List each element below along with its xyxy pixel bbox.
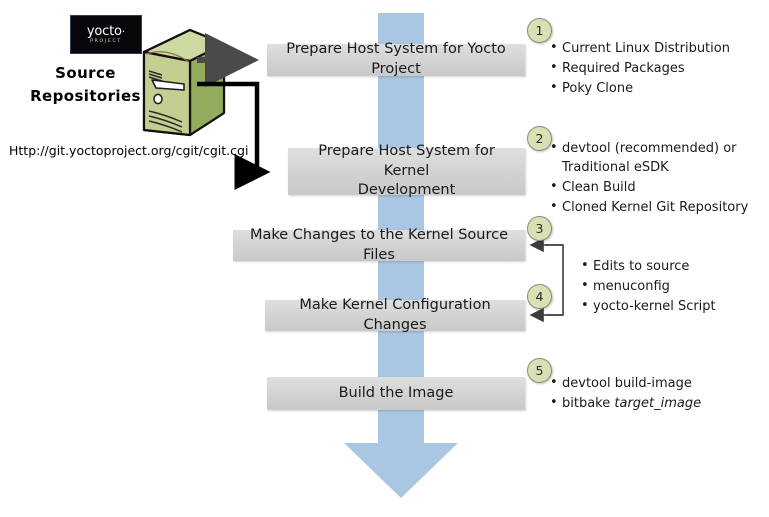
bullet-list-steps-3-4: Edits to source menuconfig yocto-kernel … bbox=[580, 258, 769, 318]
bullet-item: Required Packages bbox=[549, 60, 764, 79]
bullet-item: bitbake target_image bbox=[549, 395, 764, 414]
bullet-text: bitbake bbox=[562, 396, 614, 411]
bullet-item: menuconfig bbox=[580, 278, 769, 297]
bullet-item: Poky Clone bbox=[549, 80, 764, 99]
bullet-list-step-2: devtool (recommended) or Traditional eSD… bbox=[549, 140, 764, 218]
yocto-logo-dot: · bbox=[122, 25, 125, 38]
main-flow-arrow-head bbox=[344, 443, 458, 498]
bullet-text-italic: target_image bbox=[614, 396, 701, 411]
process-box-step-1[interactable]: Prepare Host System for Yocto Project bbox=[267, 44, 525, 76]
bullet-item: Current Linux Distribution bbox=[549, 40, 764, 59]
bullet-item: Clean Build bbox=[549, 179, 764, 198]
bullet-item: yocto-kernel Script bbox=[580, 298, 769, 317]
process-box-step-4[interactable]: Make Kernel Configuration Changes bbox=[265, 300, 525, 331]
process-box-step-3[interactable]: Make Changes to the Kernel Source Files bbox=[233, 230, 525, 261]
yocto-logo-subtext: PROJECT bbox=[90, 40, 122, 45]
bullet-item: devtool build-image bbox=[549, 375, 764, 394]
yocto-logo-text: yocto bbox=[87, 24, 122, 39]
process-box-step-2[interactable]: Prepare Host System for Kernel Developme… bbox=[288, 148, 525, 195]
bullet-item: Edits to source bbox=[580, 258, 769, 277]
source-repositories-url: Http://git.yoctoproject.org/cgit/cgit.cg… bbox=[9, 143, 248, 158]
source-repositories-label: Source Repositories bbox=[18, 62, 153, 107]
step-badge-4: 4 bbox=[527, 284, 552, 309]
yocto-logo-wordmark: yocto· bbox=[87, 25, 125, 38]
bullet-list-step-5: devtool build-image bitbake target_image bbox=[549, 375, 764, 415]
process-box-step-5[interactable]: Build the Image bbox=[267, 377, 525, 410]
bullet-item: devtool (recommended) or Traditional eSD… bbox=[549, 140, 764, 178]
bullet-item: Cloned Kernel Git Repository bbox=[549, 199, 764, 218]
diagram-canvas: yocto· PROJECT Source Repositories Http:… bbox=[0, 0, 769, 517]
bullet-list-step-1: Current Linux Distribution Required Pack… bbox=[549, 40, 764, 100]
step-badge-3: 3 bbox=[527, 216, 552, 241]
